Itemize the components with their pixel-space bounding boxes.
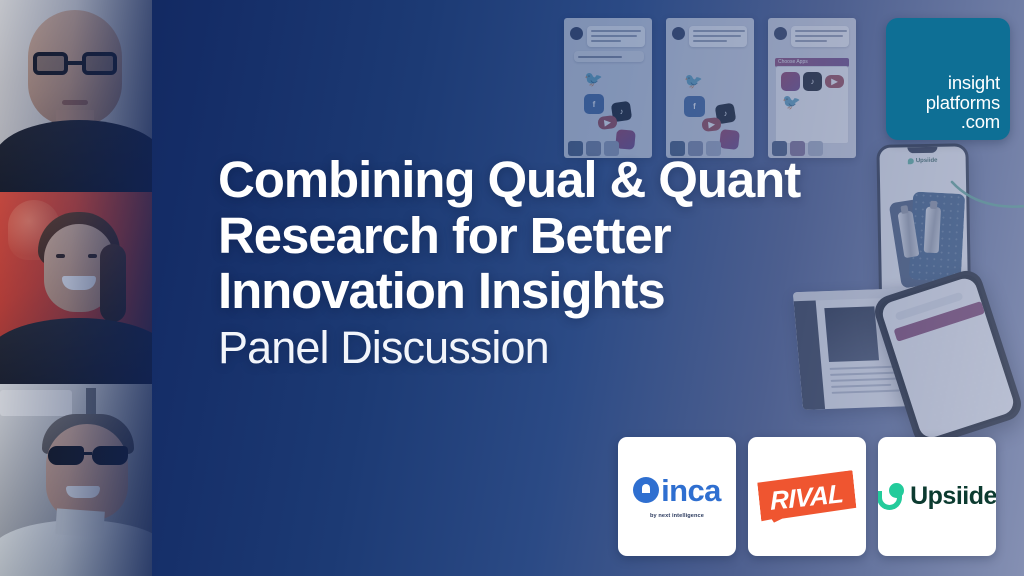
brand-line-3: .com <box>961 112 1000 132</box>
sponsor-logo-row: inca by next intelligence RIVAL Upsiide <box>618 437 996 556</box>
twitter-icon: 🐦 <box>782 95 801 110</box>
inca-wordmark: inca <box>661 475 721 506</box>
brand-line-1: insight <box>948 73 1000 93</box>
chat-bubble <box>791 26 849 47</box>
rival-speech-bubble-icon: RIVAL <box>757 470 857 524</box>
chat-bubble <box>689 26 747 47</box>
photo-tint-overlay <box>0 384 152 576</box>
panelist-photo-2 <box>0 192 152 384</box>
sponsor-card-rival[interactable]: RIVAL <box>748 437 866 556</box>
headline-line-1: Combining Qual & Quant <box>218 152 978 208</box>
youtube-icon: ▶ <box>701 117 721 132</box>
sponsor-card-upsiide[interactable]: Upsiide <box>878 437 996 556</box>
headline-line-3: Innovation Insights <box>218 263 978 319</box>
chat-bubble <box>587 26 645 47</box>
brand-line-2: platforms <box>926 93 1000 113</box>
facebook-icon: f <box>684 96 705 117</box>
twitter-icon: 🐦 <box>584 72 603 87</box>
photo-tint-overlay <box>0 192 152 384</box>
panelist-photo-3 <box>0 384 152 576</box>
avatar-icon <box>774 27 787 40</box>
youtube-icon: ▶ <box>597 115 617 130</box>
instagram-icon <box>719 129 740 150</box>
inca-mark-icon <box>633 477 659 503</box>
photo-tint-overlay <box>0 0 152 192</box>
avatar-icon <box>672 27 685 40</box>
slide-headline: Combining Qual & Quant Research for Bett… <box>218 152 978 373</box>
tiktok-icon: ♪ <box>803 72 822 91</box>
headline-subtitle: Panel Discussion <box>218 323 978 373</box>
rival-wordmark: RIVAL <box>770 477 844 516</box>
upsiide-wordmark: Upsiide <box>910 484 996 509</box>
upsiide-mark-icon <box>878 483 904 510</box>
app-picker-panel: ♪ ▶ 🐦 <box>775 66 849 144</box>
sponsor-card-inca[interactable]: inca by next intelligence <box>618 437 736 556</box>
survey-chat-column: 🐦 f ♪ ▶ <box>564 18 652 158</box>
facebook-icon: f <box>584 94 604 114</box>
twitter-icon: 🐦 <box>684 74 703 89</box>
chat-reply <box>574 51 644 62</box>
panelist-photo-1 <box>0 0 152 192</box>
instagram-icon <box>781 72 800 91</box>
insight-platforms-logo[interactable]: insight platforms .com <box>886 18 1010 140</box>
youtube-icon: ▶ <box>825 75 844 88</box>
headline-line-2: Research for Better <box>218 208 978 264</box>
survey-chat-column: Choose Apps ♪ ▶ 🐦 <box>768 18 856 158</box>
panelist-photo-strip <box>0 0 152 576</box>
avatar-icon <box>570 27 583 40</box>
inca-tagline: by next intelligence <box>650 513 704 519</box>
webinar-title-slide: 🐦 f ♪ ▶ 🐦 f ♪ ▶ <box>0 0 1024 576</box>
survey-chat-column: 🐦 f ♪ ▶ <box>666 18 754 158</box>
